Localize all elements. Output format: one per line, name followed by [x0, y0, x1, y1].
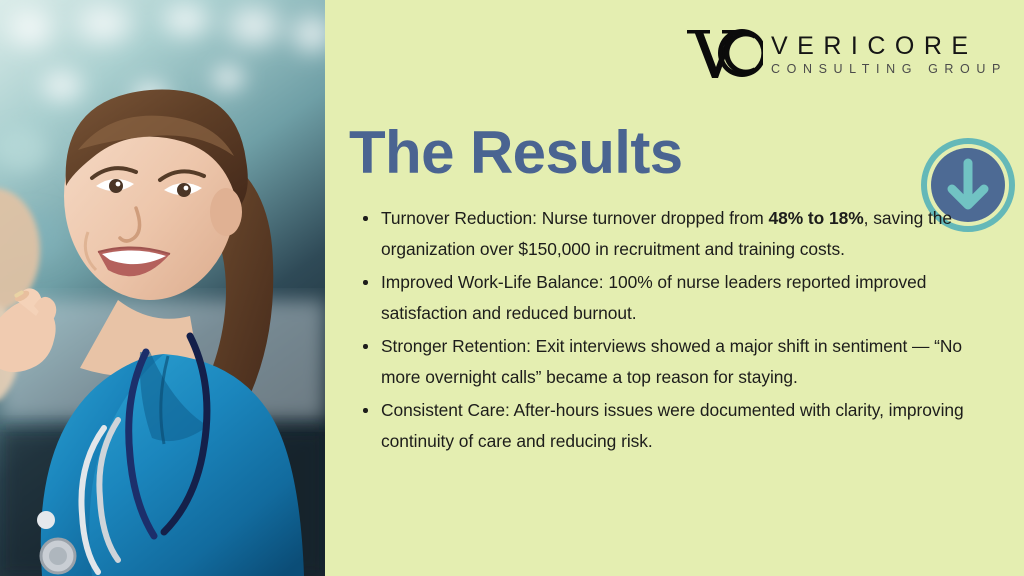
results-bullet-list: Turnover Reduction: Nurse turnover dropp…	[353, 203, 971, 459]
logo-wordmark: VERICORE CONSULTING GROUP	[771, 29, 1007, 77]
bullet-text-lead: Consistent Care: After-hours issues were…	[381, 400, 964, 451]
bullet-turnover-reduction: Turnover Reduction: Nurse turnover dropp…	[353, 203, 971, 264]
bullet-text-lead: Stronger Retention: Exit interviews show…	[381, 336, 962, 387]
bullet-work-life-balance: Improved Work-Life Balance: 100% of nurs…	[353, 267, 971, 328]
nurse-photo-illustration	[0, 0, 325, 576]
logo-tagline: CONSULTING GROUP	[771, 62, 1007, 77]
vc-monogram-icon	[685, 23, 763, 83]
ear	[210, 188, 242, 236]
nurse-photo	[0, 0, 325, 576]
slide-the-results: VERICORE CONSULTING GROUP The Results Tu…	[0, 0, 1024, 576]
vericore-logo: VERICORE CONSULTING GROUP	[685, 22, 1007, 84]
page-title: The Results	[349, 123, 682, 183]
bullet-stronger-retention: Stronger Retention: Exit interviews show…	[353, 331, 971, 392]
content-panel: VERICORE CONSULTING GROUP The Results Tu…	[325, 0, 1024, 576]
bullet-text-lead: Turnover Reduction: Nurse turnover dropp…	[381, 208, 768, 228]
bullet-text-lead: Improved Work-Life Balance: 100% of nurs…	[381, 272, 926, 323]
bullet-consistent-care: Consistent Care: After-hours issues were…	[353, 395, 971, 456]
logo-company-name: VERICORE	[771, 33, 1007, 59]
bullet-text-emphasis: 48% to 18%	[768, 208, 863, 228]
